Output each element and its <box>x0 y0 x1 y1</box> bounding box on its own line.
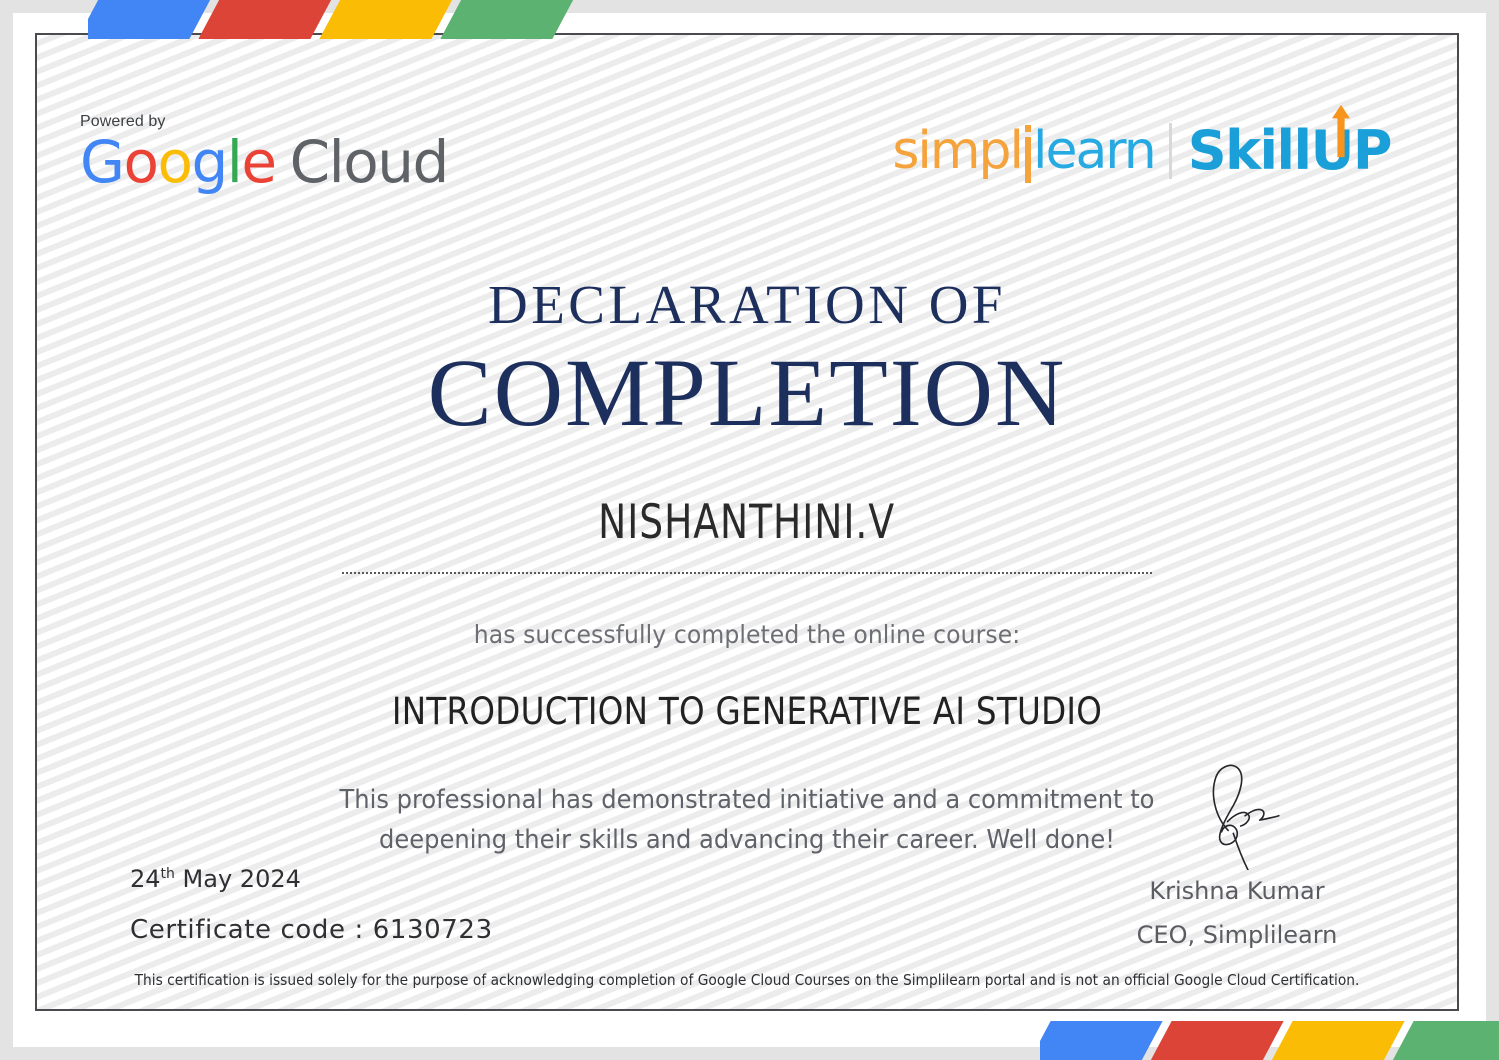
certificate-page: Powered by GoogleCloud simpllearn SkillU… <box>0 0 1499 1060</box>
certificate-title-block: DECLARATION OF COMPLETION <box>37 275 1457 445</box>
skillup-text: SkillUP <box>1188 119 1391 182</box>
stripe-yellow <box>319 0 452 39</box>
course-name: INTRODUCTION TO GENERATIVE AI STUDIO <box>122 690 1372 733</box>
recipient-name: NISHANTHINI.V <box>599 495 896 550</box>
google-cloud-logo: Powered by GoogleCloud <box>80 113 448 192</box>
cloud-word: Cloud <box>290 128 448 196</box>
issue-date: 24th May 2024 <box>130 865 301 893</box>
stripe-red <box>198 0 331 39</box>
signatory-title: CEO, Simplilearn <box>1077 921 1397 949</box>
issue-date-day: 24 <box>130 865 161 893</box>
certificate-code-label: Certificate code : <box>130 915 373 945</box>
google-letter-l: l <box>227 128 242 196</box>
stripe-red <box>1150 1021 1283 1060</box>
name-underline-rule <box>342 572 1152 574</box>
completion-subtitle: has successfully completed the online co… <box>80 620 1415 649</box>
certificate-code: Certificate code : 6130723 <box>130 915 493 945</box>
title-completion: COMPLETION <box>37 341 1457 445</box>
signatory-name: Krishna Kumar <box>1077 877 1397 905</box>
stripe-yellow <box>1271 1021 1404 1060</box>
google-letter-e: e <box>241 128 275 196</box>
i-dot <box>1025 125 1031 132</box>
certificate-frame: Powered by GoogleCloud simpllearn SkillU… <box>35 33 1459 1011</box>
corner-stripes-bottom-right <box>1040 1021 1499 1060</box>
signature-image <box>1152 760 1322 870</box>
stripe-green <box>1392 1021 1499 1060</box>
certificate-disclaimer: This certification is issued solely for … <box>94 971 1400 989</box>
simpl-text: simpl <box>892 121 1022 181</box>
stripe-blue <box>88 0 211 39</box>
certificate-code-value: 6130723 <box>373 915 493 945</box>
congratulation-blurb: This professional has demonstrated initi… <box>301 780 1194 860</box>
simplilearn-i-glyph <box>1022 125 1033 177</box>
google-letter-o2: o <box>157 128 191 196</box>
issue-date-rest: May 2024 <box>175 865 301 893</box>
google-letter-o1: o <box>123 128 157 196</box>
recipient-block: NISHANTHINI.V <box>37 495 1457 574</box>
stripe-green <box>440 0 573 39</box>
corner-stripes-top-left <box>88 0 648 39</box>
i-stem <box>1025 137 1031 183</box>
skillup-wordmark: SkillUP <box>1188 124 1391 178</box>
issue-date-ordinal: th <box>161 866 175 882</box>
google-letter-g: G <box>80 128 123 196</box>
logo-divider <box>1169 123 1172 179</box>
up-arrow-icon <box>1332 102 1350 160</box>
signature-block: Krishna Kumar CEO, Simplilearn <box>1077 760 1397 949</box>
title-declaration-of: DECLARATION OF <box>37 275 1457 335</box>
simplilearn-skillup-logo: simpllearn SkillUP <box>892 123 1391 179</box>
google-cloud-wordmark: GoogleCloud <box>80 132 448 192</box>
simplilearn-wordmark: simpllearn <box>892 125 1154 177</box>
learn-text: learn <box>1033 121 1155 181</box>
certificate-header: Powered by GoogleCloud simpllearn SkillU… <box>37 35 1457 185</box>
google-letter-g2: g <box>191 128 226 196</box>
stripe-blue <box>1040 1021 1163 1060</box>
